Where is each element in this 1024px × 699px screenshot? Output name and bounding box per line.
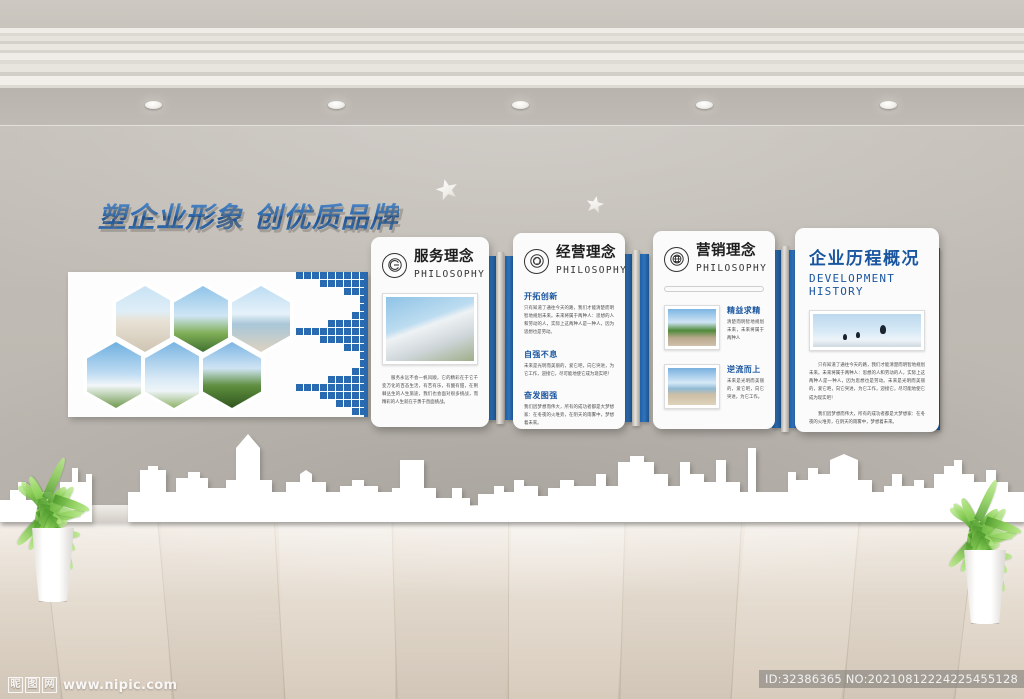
mosaic-pixel — [328, 272, 335, 279]
panel-2-section-1: 开拓创新 只有知道了通往今天的路，我们才能清楚而明智地规划未来。未来将属于两种人… — [524, 291, 614, 338]
mosaic-pixel — [352, 288, 359, 295]
panel-3-item-1-text: 精益求精 清楚而明智地规划未来，未来将属于两种人 — [727, 305, 764, 350]
mosaic-pixel — [328, 320, 335, 327]
bird-1 — [880, 325, 886, 334]
panel-3-title-cn: 营销理念 — [696, 243, 756, 259]
panel-2-section-2-heading: 自强不息 — [524, 349, 614, 360]
panel-marketing-philosophy[interactable]: 营销理念 PHILOSOPHY 精益求精 清楚而明智地规划未来，未来将属于两种人 — [653, 231, 775, 429]
panel-2-section-2-body: 未来是光明而美丽的，爱它吧，向它突进，为它工作，迎接它，尽可能地使它成为现实吧！ — [524, 363, 614, 379]
blue-bar-4 — [640, 254, 649, 422]
culture-wall-board: 服务理念 PHILOSOPHY 服务永远不会一帆风顺，它的精彩在于它千变万化的百… — [0, 0, 1024, 699]
panel-1-title-block: 服务理念 PHILOSOPHY — [414, 249, 485, 281]
mosaic-pixel — [352, 384, 359, 391]
mosaic-pixel — [352, 272, 359, 279]
panel-1-header: 服务理念 PHILOSOPHY — [382, 249, 478, 281]
panel-4-title-en: DEVELOPMENT HISTORY — [809, 272, 925, 298]
mosaic-pixel — [344, 392, 351, 399]
panel-1-title-en: PHILOSOPHY — [414, 269, 485, 280]
hex-photo-3-image — [232, 286, 290, 352]
mosaic-pixel — [336, 280, 343, 287]
mosaic-pixel — [328, 392, 335, 399]
panel-3-title-en: PHILOSOPHY — [696, 263, 767, 274]
mosaic-pixel — [328, 328, 335, 335]
nipic-logo-char-1: 昵 — [8, 677, 23, 693]
mosaic-pixel — [320, 328, 327, 335]
panel-2-title-en: PHILOSOPHY — [556, 265, 627, 276]
circle-camera-icon — [524, 249, 549, 274]
mosaic-pixel — [296, 328, 303, 335]
panel-development-history[interactable]: 企业历程概况 DEVELOPMENT HISTORY 只有知道了通往今天的路，我… — [795, 228, 939, 432]
panel-2-section-1-heading: 开拓创新 — [524, 291, 614, 302]
panel-3-item-2-photo-image — [668, 368, 716, 405]
mosaic-pixel — [312, 328, 319, 335]
mosaic-pixel — [328, 336, 335, 343]
mosaic-pixel — [304, 272, 311, 279]
panel-3-item-2-photo[interactable] — [664, 364, 720, 409]
mosaic-pixel — [312, 272, 319, 279]
mosaic-pixel — [328, 376, 335, 383]
panel-3-item-1-heading: 精益求精 — [727, 305, 764, 316]
mosaic-pixel — [320, 336, 327, 343]
panel-3-item-2-body: 未来是光明而美丽的，爱它吧，向它突进，为它工作。 — [727, 378, 764, 402]
mosaic-pixel — [328, 280, 335, 287]
panel-4-paragraph-1: 只有知道了通往今天的路，我们才能清楚而明智地规划未来。未来将属于两种人：思想的人… — [809, 362, 925, 403]
mosaic-pixel — [352, 320, 359, 327]
panel-4-title-cn: 企业历程概况 — [809, 244, 925, 269]
gray-bar-1 — [496, 252, 504, 424]
mosaic-pixel — [304, 328, 311, 335]
mosaic-pixel — [336, 320, 343, 327]
mosaic-pixel — [336, 328, 343, 335]
hex-photo-4-image — [87, 342, 145, 408]
mosaic-pixel — [320, 280, 327, 287]
hexagon-grid — [76, 276, 286, 416]
mosaic-pixel — [352, 280, 359, 287]
panel-3-item-2-heading: 逆流而上 — [727, 364, 764, 375]
panel-4-photo-image — [813, 314, 921, 347]
mosaic-pixel — [352, 344, 359, 351]
mosaic-solid-edge — [364, 272, 368, 417]
mosaic-pixel — [320, 384, 327, 391]
panel-3-item-1[interactable]: 精益求精 清楚而明智地规划未来，未来将属于两种人 — [664, 305, 764, 350]
panel-1-photo-image — [386, 297, 474, 361]
mosaic-pixel — [320, 272, 327, 279]
panel-2-header: 经营理念 PHILOSOPHY — [524, 245, 614, 277]
panel-3-item-1-body: 清楚而明智地规划未来，未来将属于两种人 — [727, 319, 764, 343]
panel-1-photo[interactable] — [382, 293, 478, 365]
scene-canvas: 塑企业形象 创优质品牌 塑企业形象 创优质品牌 — [0, 0, 1024, 699]
circle-e-icon — [382, 253, 407, 278]
panel-2-title-block: 经营理念 PHILOSOPHY — [556, 245, 627, 277]
nipic-logo-char-2: 图 — [25, 677, 40, 693]
panel-2-section-3-body: 我们因梦想而伟大，所有的成功者都是大梦想家：在冬夜的火堆旁，在阴天的雨雾中，梦想… — [524, 404, 614, 428]
panel-2-section-1-body: 只有知道了通往今天的路，我们才能清楚而明智地规划未来。未来将属于两种人：思想的人… — [524, 305, 614, 338]
mosaic-pixel — [344, 384, 351, 391]
panel-2-section-2: 自强不息 未来是光明而美丽的，爱它吧，向它突进，为它工作，迎接它，尽可能地使它成… — [524, 349, 614, 379]
mosaic-pixel — [336, 376, 343, 383]
mosaic-pixel — [296, 272, 303, 279]
mosaic-pixel — [336, 384, 343, 391]
mosaic-pixel — [344, 280, 351, 287]
panel-3-item-1-photo-image — [668, 309, 716, 346]
mosaic-pixel — [336, 400, 343, 407]
mosaic-pixel — [352, 312, 359, 319]
blue-pixel-mosaic — [296, 272, 368, 417]
mosaic-pixel — [344, 272, 351, 279]
mosaic-pixel — [296, 384, 303, 391]
mosaic-pixel — [352, 400, 359, 407]
mosaic-pixel — [344, 344, 351, 351]
panel-4-photo[interactable] — [809, 310, 925, 351]
hex-photo-2-image — [174, 286, 232, 352]
hex-photo-5-image — [145, 342, 203, 408]
mosaic-pixel — [352, 392, 359, 399]
mosaic-pixel — [344, 400, 351, 407]
mosaic-pixel — [344, 376, 351, 383]
mosaic-pixel — [352, 368, 359, 375]
mosaic-pixel — [344, 328, 351, 335]
hex-photo-1-image — [116, 286, 174, 352]
panel-service-philosophy[interactable]: 服务理念 PHILOSOPHY 服务永远不会一帆风顺，它的精彩在于它千变万化的百… — [371, 237, 489, 427]
nipic-logo: 昵图网 — [8, 677, 57, 693]
bird-2 — [856, 332, 860, 338]
panel-3-item-2-text: 逆流而上 未来是光明而美丽的，爱它吧，向它突进，为它工作。 — [727, 364, 764, 409]
panel-management-philosophy[interactable]: 经营理念 PHILOSOPHY 开拓创新 只有知道了通往今天的路，我们才能清楚而… — [513, 233, 625, 429]
panel-3-divider — [664, 286, 764, 292]
mosaic-pixel — [312, 384, 319, 391]
mosaic-pixel — [320, 392, 327, 399]
mosaic-pixel — [336, 392, 343, 399]
watermark-url: www.nipic.com — [63, 678, 177, 693]
mosaic-pixel — [344, 336, 351, 343]
mosaic-pixel — [336, 272, 343, 279]
panel-3-header: 营销理念 PHILOSOPHY — [664, 243, 764, 275]
circle-globe-icon — [664, 247, 689, 272]
panel-2-title-cn: 经营理念 — [556, 245, 616, 261]
hexagon-collage-panel — [68, 272, 368, 417]
mosaic-pixel — [344, 288, 351, 295]
gray-bar-3 — [781, 246, 789, 432]
site-watermark: 昵图网 www.nipic.com — [8, 677, 177, 693]
mosaic-pixel — [336, 336, 343, 343]
panel-1-body-text: 服务永远不会一帆风顺，它的精彩在于它千变万化的百态生活，有苦有乐，有酸有甜，在荆… — [382, 375, 478, 408]
mosaic-pixel — [352, 376, 359, 383]
panel-3-item-2[interactable]: 逆流而上 未来是光明而美丽的，爱它吧，向它突进，为它工作。 — [664, 364, 764, 409]
panel-2-section-3-heading: 奋发图强 — [524, 390, 614, 401]
gray-bar-2 — [632, 250, 640, 426]
mosaic-pixel — [352, 408, 359, 415]
panel-2-section-3: 奋发图强 我们因梦想而伟大，所有的成功者都是大梦想家：在冬夜的火堆旁，在阴天的雨… — [524, 390, 614, 428]
panel-1-title-cn: 服务理念 — [414, 249, 474, 265]
panel-3-title-block: 营销理念 PHILOSOPHY — [696, 243, 767, 275]
mosaic-pixel — [352, 336, 359, 343]
panel-4-header: 企业历程概况 DEVELOPMENT HISTORY — [809, 244, 925, 298]
mosaic-pixel — [328, 384, 335, 391]
panel-3-item-1-photo[interactable] — [664, 305, 720, 350]
nipic-logo-char-3: 网 — [42, 677, 57, 693]
panel-4-paragraph-2: 我们因梦想而伟大，所有的成功者都是大梦想家：在冬夜的火堆旁，在阴天的雨雾中，梦想… — [809, 411, 925, 427]
mosaic-pixel — [304, 384, 311, 391]
mosaic-pixel — [352, 328, 359, 335]
bird-3 — [843, 334, 847, 340]
watermark-id: ID:32386365 NO:20210812224225455128 — [759, 670, 1024, 688]
mosaic-pixel — [344, 320, 351, 327]
hex-photo-6-image — [203, 342, 261, 408]
